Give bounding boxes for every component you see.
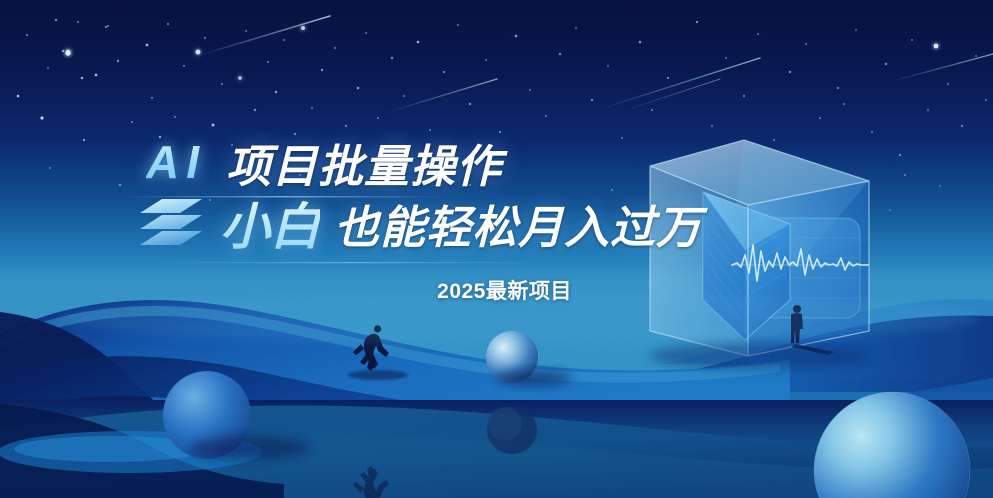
star-icon [212, 124, 215, 127]
star-icon [555, 214, 557, 216]
star-icon [245, 30, 247, 32]
star-icon [469, 103, 471, 105]
star-icon [911, 39, 913, 41]
scene-illustration [0, 0, 993, 498]
star-icon [773, 139, 775, 141]
star-icon [357, 87, 360, 90]
star-icon [254, 109, 256, 111]
runner-shadow [348, 370, 408, 380]
sphere-shadow [496, 370, 572, 386]
horizon-glow [60, 292, 980, 344]
star-icon [196, 50, 201, 55]
star-icon [743, 95, 745, 97]
star-icon [81, 77, 84, 80]
star-icon [529, 89, 531, 91]
star-icon [696, 21, 698, 23]
star-icon [167, 23, 169, 25]
star-icon [934, 44, 939, 49]
cube-shadow [650, 342, 870, 370]
star-icon [377, 117, 379, 119]
star-icon [131, 121, 133, 123]
promo-banner: AI 项目批量操作 小白 [0, 0, 993, 498]
star-icon [961, 125, 963, 127]
star-icon [174, 116, 176, 118]
star-icon [311, 107, 313, 109]
star-icon [837, 87, 839, 89]
star-icon [146, 44, 149, 47]
star-icon [231, 144, 233, 146]
star-icon [77, 21, 79, 23]
star-icon [238, 76, 242, 80]
star-icon [183, 65, 185, 67]
star-icon [267, 61, 269, 63]
star-icon [651, 109, 653, 111]
star-icon [83, 139, 85, 141]
star-icon [403, 95, 405, 97]
star-icon [904, 174, 906, 176]
star-icon [299, 174, 301, 176]
star-icon [443, 71, 445, 73]
star-icon [105, 26, 107, 28]
star-icon [757, 33, 759, 35]
star-icon [805, 43, 807, 45]
star-icon [365, 32, 367, 34]
star-icon [575, 27, 577, 29]
star-icon [391, 57, 393, 59]
star-icon [117, 60, 119, 62]
accent-glow-line [120, 196, 450, 197]
star-icon [40, 116, 43, 119]
sphere-left-shadow [190, 436, 310, 460]
star-icon [95, 74, 98, 77]
star-icon [159, 136, 161, 138]
star-icon [107, 25, 109, 27]
star-icon [927, 109, 929, 111]
star-icon [559, 53, 561, 55]
star-icon [429, 129, 431, 131]
star-icon [985, 99, 987, 101]
star-icon [789, 71, 791, 73]
star-icon [55, 19, 57, 21]
star-icon [65, 50, 70, 55]
accent-glow-line-2 [150, 262, 550, 263]
star-icon [294, 133, 296, 135]
star-icon [485, 59, 487, 61]
star-icon [17, 95, 20, 98]
star-icon [62, 50, 64, 52]
star-icon [47, 67, 49, 69]
star-icon [345, 125, 347, 127]
star-icon [667, 77, 669, 79]
star-icon [49, 167, 51, 169]
star-icon [591, 99, 593, 101]
star-icon [621, 137, 623, 139]
star-icon [499, 131, 501, 133]
star-icon [151, 97, 153, 99]
star-icon [639, 41, 642, 44]
star-icon [321, 69, 323, 71]
star-icon [843, 103, 845, 105]
star-icon [711, 125, 713, 127]
star-icon [283, 39, 285, 41]
star-icon [871, 131, 873, 133]
star-icon [399, 204, 401, 206]
star-icon [939, 185, 941, 187]
star-icon [204, 37, 206, 39]
star-icon [26, 34, 28, 36]
star-icon [607, 65, 609, 67]
star-icon [275, 91, 278, 94]
sphere-reflection-hl [488, 407, 522, 441]
star-icon [947, 83, 949, 85]
star-icon [469, 184, 471, 186]
star-icon [221, 83, 223, 85]
star-icon [819, 117, 821, 119]
star-icon [975, 55, 977, 57]
star-icon [885, 63, 887, 65]
star-icon [611, 189, 613, 191]
star-icon [209, 199, 211, 201]
star-icon [899, 154, 901, 156]
star-icon [119, 184, 121, 186]
star-icon [725, 57, 727, 59]
star-icon [457, 24, 459, 26]
star-icon [545, 115, 547, 117]
star-icon [417, 41, 420, 44]
star-icon [334, 47, 336, 49]
star-icon [855, 29, 857, 31]
star-icon [301, 26, 305, 30]
star-icon [889, 209, 891, 211]
star-icon [515, 35, 518, 38]
